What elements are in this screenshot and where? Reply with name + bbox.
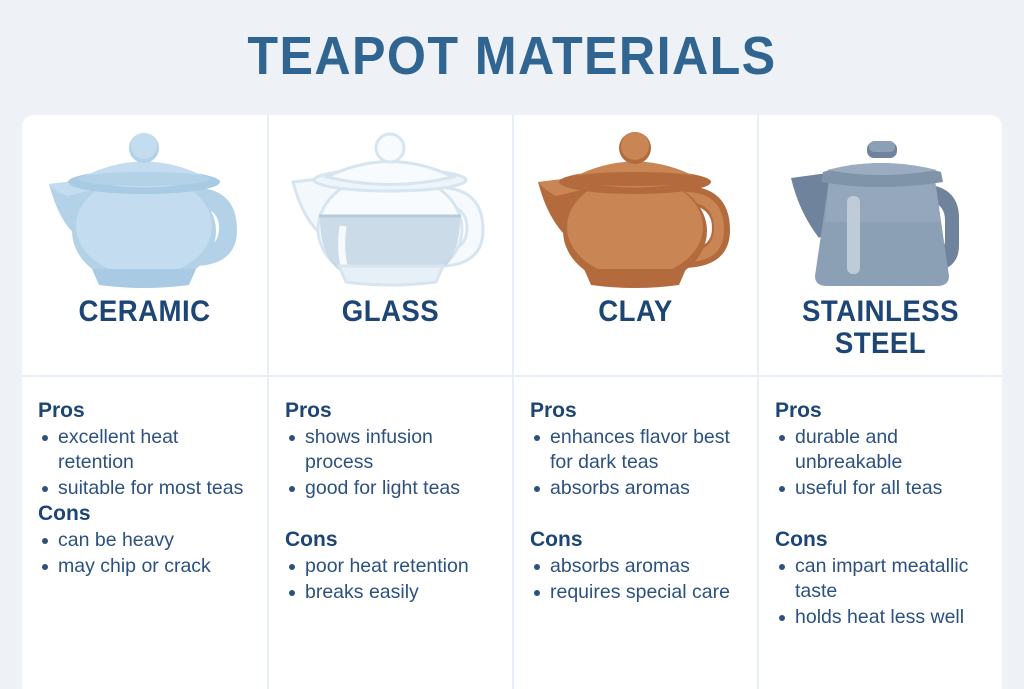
pros-heading: Pros: [38, 399, 255, 423]
ceramic-details: Pros excellent heat retention suitable f…: [22, 377, 267, 689]
list-item: suitable for most teas: [38, 476, 255, 501]
list-item: good for light teas: [285, 476, 500, 501]
list-item: breaks easily: [285, 580, 500, 605]
ceramic-header: CERAMIC: [22, 115, 267, 377]
pros-heading: Pros: [530, 399, 745, 423]
pros-heading: Pros: [285, 399, 500, 423]
clay-details: Pros enhances flavor best for dark teas …: [514, 377, 757, 689]
list-item: can impart meatallic taste: [775, 554, 990, 604]
cons-list: can be heavy may chip or crack: [38, 528, 255, 579]
list-item: absorbs aromas: [530, 476, 745, 501]
glass-details: Pros shows infusion process good for lig…: [269, 377, 512, 689]
cons-list: poor heat retention breaks easily: [285, 554, 500, 605]
pros-list: shows infusion process good for light te…: [285, 425, 500, 501]
spacer: [530, 502, 745, 528]
material-column-clay: CLAY Pros enhances flavor best for dark …: [512, 115, 757, 689]
materials-comparison-card: CERAMIC Pros excellent heat retention su…: [22, 115, 1002, 689]
list-item: excellent heat retention: [38, 425, 255, 475]
stainless-steel-header: STAINLESS STEEL: [759, 115, 1002, 377]
ceramic-teapot-icon: [22, 121, 267, 296]
list-item: may chip or crack: [38, 554, 255, 579]
spacer: [775, 502, 990, 528]
glass-teapot-icon: [269, 121, 512, 296]
material-name: CLAY: [524, 296, 748, 328]
pros-list: enhances flavor best for dark teas absor…: [530, 425, 745, 501]
material-name: STAINLESS STEEL: [769, 296, 993, 360]
list-item: absorbs aromas: [530, 554, 745, 579]
material-column-ceramic: CERAMIC Pros excellent heat retention su…: [22, 115, 267, 689]
page-title: TEAPOT MATERIALS: [36, 28, 988, 85]
cons-heading: Cons: [38, 502, 255, 526]
material-name: GLASS: [279, 296, 503, 328]
list-item: requires special care: [530, 580, 745, 605]
stainless-steel-details: Pros durable and unbreakable useful for …: [759, 377, 1002, 689]
list-item: poor heat retention: [285, 554, 500, 579]
pros-heading: Pros: [775, 399, 990, 423]
list-item: useful for all teas: [775, 476, 990, 501]
list-item: can be heavy: [38, 528, 255, 553]
list-item: enhances flavor best for dark teas: [530, 425, 745, 475]
cons-list: absorbs aromas requires special care: [530, 554, 745, 605]
pros-list: durable and unbreakable useful for all t…: [775, 425, 990, 501]
list-item: holds heat less well: [775, 605, 990, 630]
material-name: CERAMIC: [32, 296, 257, 328]
list-item: durable and unbreakable: [775, 425, 990, 475]
spacer: [285, 502, 500, 528]
pros-list: excellent heat retention suitable for mo…: [38, 425, 255, 501]
list-item: shows infusion process: [285, 425, 500, 475]
material-column-glass: GLASS Pros shows infusion process good f…: [267, 115, 512, 689]
material-column-stainless-steel: STAINLESS STEEL Pros durable and unbreak…: [757, 115, 1002, 689]
cons-heading: Cons: [285, 528, 500, 552]
clay-header: CLAY: [514, 115, 757, 377]
cons-heading: Cons: [775, 528, 990, 552]
glass-header: GLASS: [269, 115, 512, 377]
clay-teapot-icon: [514, 121, 757, 296]
cons-list: can impart meatallic taste holds heat le…: [775, 554, 990, 630]
stainless-steel-teapot-icon: [759, 121, 1002, 296]
cons-heading: Cons: [530, 528, 745, 552]
